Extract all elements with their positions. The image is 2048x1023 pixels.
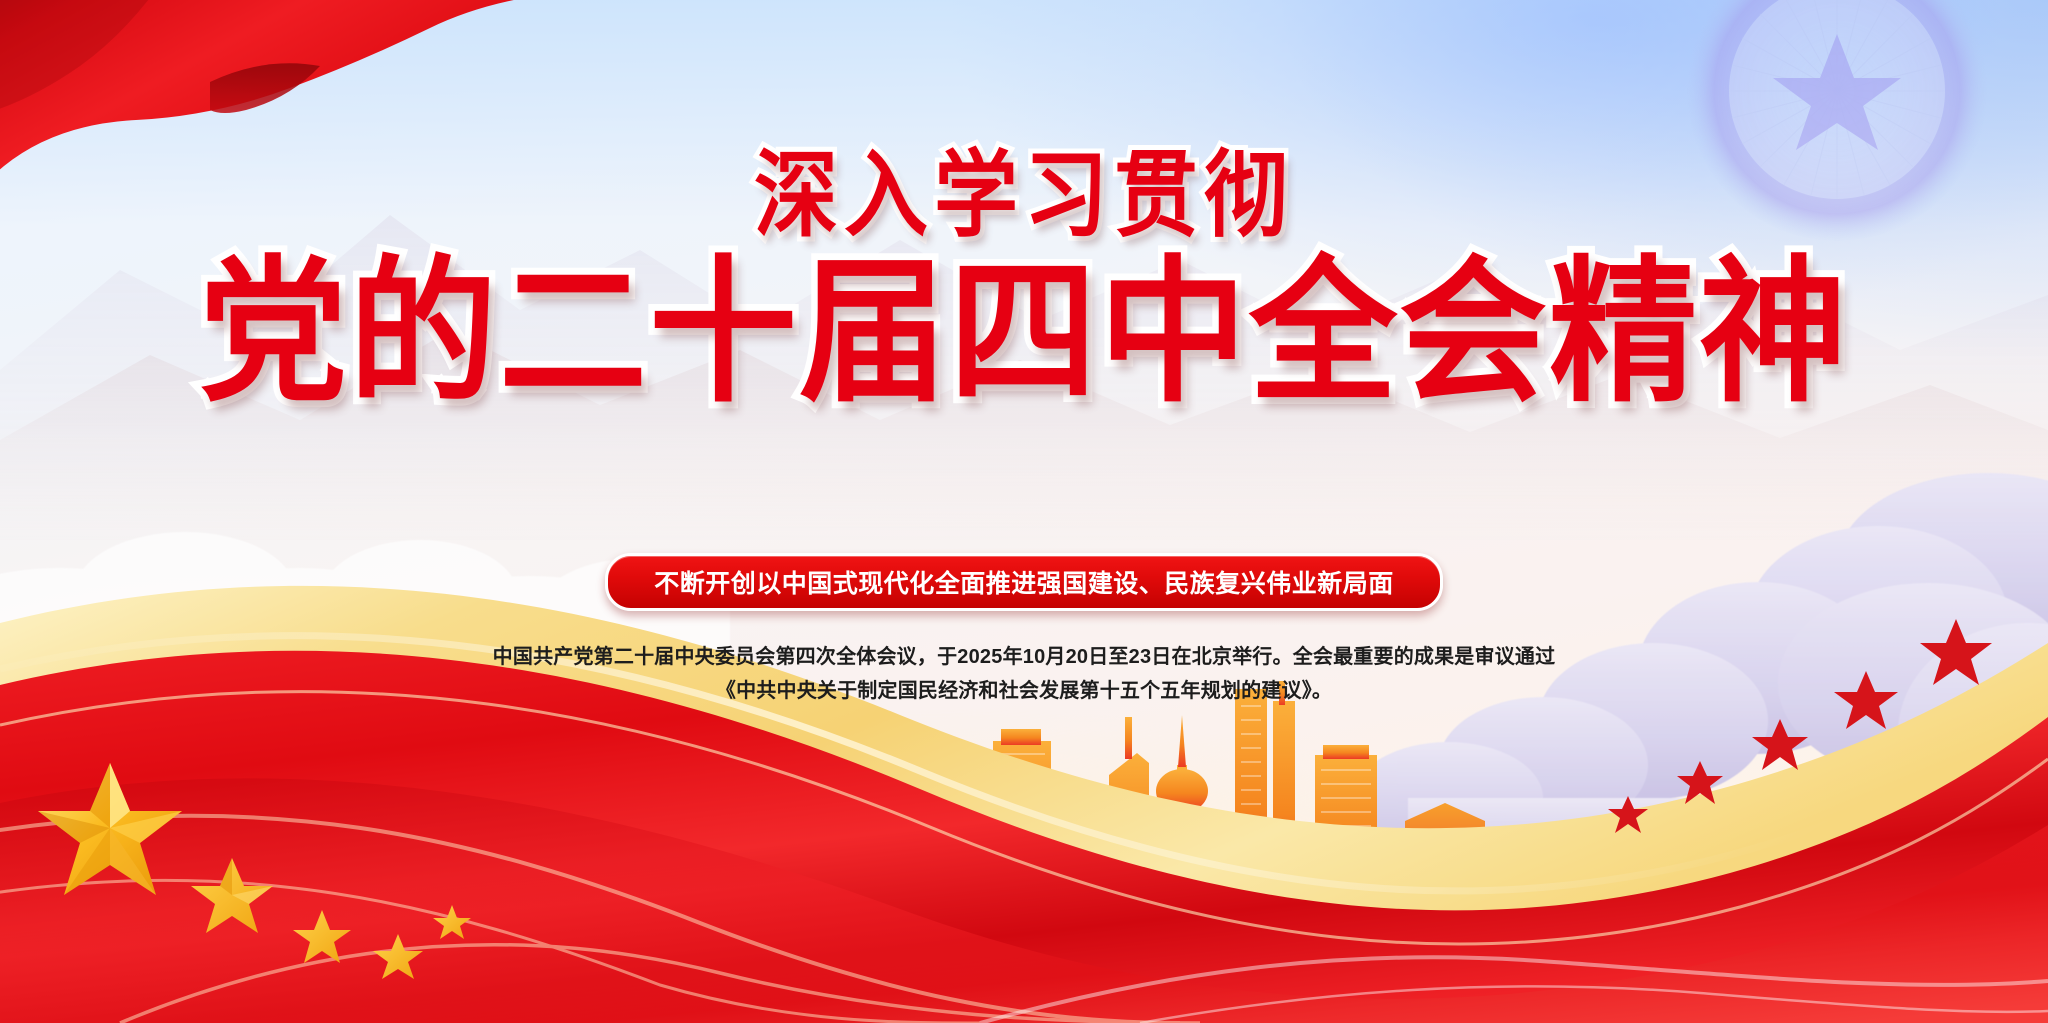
body-line-1: 中国共产党第二十届中央委员会第四次全体会议，于2025年10月20日至23日在北… <box>0 640 2048 674</box>
headline-sub-top: 深入学习贯彻 <box>0 148 2048 242</box>
body-line-2: 《中共中央关于制定国民经济和社会发展第十五个五年规划的建议》。 <box>0 674 2048 708</box>
subtitle-pill: 不断开创以中国式现代化全面推进强国建设、民族复兴伟业新局面 <box>605 553 1443 611</box>
red-stars-group <box>1488 593 2048 873</box>
subtitle-pill-wrap: 不断开创以中国式现代化全面推进强国建设、民族复兴伟业新局面 <box>0 553 2048 611</box>
poster-canvas: 深入学习贯彻 党的二十届四中全会精神 不断开创以中国式现代化全面推进强国建设、民… <box>0 0 2048 1023</box>
body-paragraph: 中国共产党第二十届中央委员会第四次全体会议，于2025年10月20日至23日在北… <box>0 640 2048 708</box>
headline-main-title: 党的二十届四中全会精神 <box>0 254 2048 411</box>
gold-stars-group <box>0 693 520 1023</box>
headline-block: 深入学习贯彻 党的二十届四中全会精神 <box>0 148 2048 402</box>
